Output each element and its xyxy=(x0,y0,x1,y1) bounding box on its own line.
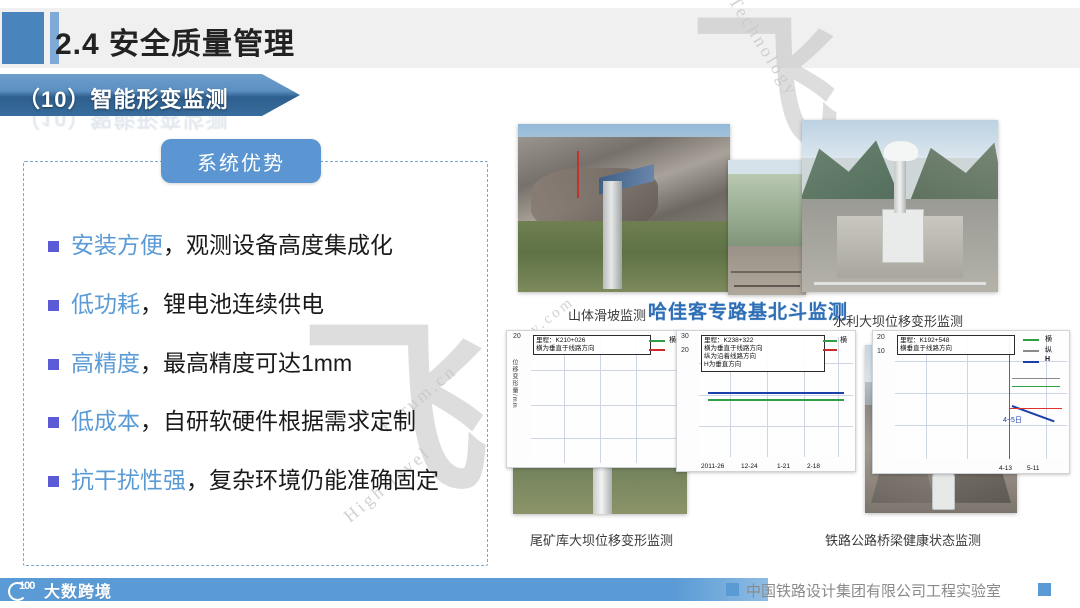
bullet-square-icon xyxy=(48,476,59,487)
chart-legend-sub3: H为垂直方向 xyxy=(704,361,822,369)
chart-x-tick-2: 1-21 xyxy=(777,463,790,470)
list-item: 低功耗，锂电池连续供电 xyxy=(48,290,478,319)
chart-legend-box: 里程：K192+548 横垂直于线路方向 xyxy=(897,335,1015,355)
chart-x-tick-3: 2-18 xyxy=(807,463,820,470)
chart-series-swatch-zong xyxy=(1023,350,1039,352)
chart-series-label-heng: 横 xyxy=(1045,334,1052,344)
bullet-comma: ， xyxy=(140,291,163,317)
chart-y-tick-second: 20 xyxy=(681,347,689,354)
chevron-label: （10）智能形变监测 xyxy=(18,82,228,114)
list-item: 高精度，最高精度可达1mm xyxy=(48,349,478,378)
chart-series-swatch-zong xyxy=(649,349,665,351)
footer-square-left xyxy=(726,583,739,596)
bullet-body: 观测设备高度集成化 xyxy=(186,232,393,258)
chart-series-swatch-heng xyxy=(1023,339,1039,341)
photo-dam-gnss-station xyxy=(802,120,998,292)
bullet-square-icon xyxy=(48,417,59,428)
chart-legend-title: 里程：K238+322 xyxy=(704,337,822,345)
section-chevron-banner: （10）智能形变监测 xyxy=(0,74,300,116)
bullet-text: 安装方便，观测设备高度集成化 xyxy=(71,231,393,260)
bullet-keyword: 抗干扰性强 xyxy=(71,467,186,493)
chart-legend-box: 里程：K238+322 横为垂直于线路方向 纵为沿着线路方向 H为垂直方向 xyxy=(701,335,825,372)
chart-legend-title: 里程：K192+548 xyxy=(900,337,1012,345)
bottom-white-strip xyxy=(0,601,1080,608)
chart-card-k192: 20 10 里程：K192+548 横垂直于线路方向 横 纵 H 4~5日 4-… xyxy=(872,330,1070,474)
caption-bridge-health: 铁路公路桥梁健康状态监测 xyxy=(825,530,981,549)
top-white-strip xyxy=(0,0,1080,8)
list-item: 低成本，自研软硬件根据需求定制 xyxy=(48,407,478,436)
chart-x-tick-1: 5-11 xyxy=(1027,465,1040,472)
chart-x-tick-1: 12-24 xyxy=(741,463,758,470)
chart-x-tick-0: 4-13 xyxy=(999,465,1012,472)
bullet-square-icon xyxy=(48,241,59,252)
slide-root: 2.4 安全质量管理 （10）智能形变监测 （10）智能形变监测 飞 飞 Tec… xyxy=(0,0,1080,608)
chart-series-swatch-zong xyxy=(823,349,837,351)
bullet-text: 低功耗，锂电池连续供电 xyxy=(71,290,324,319)
list-item: 抗干扰性强，复杂环境仍能准确固定 xyxy=(48,466,478,495)
chart-series-swatch-h xyxy=(1023,361,1039,363)
bullet-square-icon xyxy=(48,300,59,311)
chart-y-axis-label: 位移变形量/mm xyxy=(510,359,519,445)
bullet-comma: ， xyxy=(163,232,186,258)
chart-card-k210: 20 位移变形量/mm 里程：K210+026 横为垂直于线路方向 横 xyxy=(506,330,684,468)
bullet-comma: ， xyxy=(140,408,163,434)
logo-text: 大数跨境 xyxy=(44,578,112,602)
caption-railway-beidou: 哈佳客专路基北斗监测 xyxy=(648,297,848,324)
chart-series-swatch-heng xyxy=(649,340,665,342)
bullet-text: 低成本，自研软硬件根据需求定制 xyxy=(71,407,416,436)
chart-series-label-h: H xyxy=(1045,356,1050,363)
bullet-square-icon xyxy=(48,359,59,370)
page-title: 2.4 安全质量管理 xyxy=(55,19,295,63)
bullet-text: 抗干扰性强，复杂环境仍能准确固定 xyxy=(71,466,439,495)
system-advantages-badge-label: 系统优势 xyxy=(197,147,285,176)
bullet-body: 锂电池连续供电 xyxy=(163,291,324,317)
chart-series-swatch-heng xyxy=(823,340,837,342)
chart-y-tick-second: 10 xyxy=(877,348,885,355)
advantages-bullet-list: 安装方便，观测设备高度集成化 低功耗，锂电池连续供电 高精度，最高精度可达1mm… xyxy=(48,231,478,525)
caption-tailings-dam: 尾矿库大坝位移变形监测 xyxy=(530,530,673,549)
bullet-keyword: 高精度 xyxy=(71,350,140,376)
chart-y-tick-top: 30 xyxy=(681,333,689,340)
logo-circle-100-icon: 100 xyxy=(8,580,38,599)
bullet-comma: ， xyxy=(186,467,209,493)
chart-legend-sub: 横为垂直于线路方向 xyxy=(536,345,648,353)
footer-logo: 100 大数跨境 xyxy=(8,578,112,601)
bullet-body: 复杂环境仍能准确固定 xyxy=(209,467,439,493)
footer-bar xyxy=(0,578,768,601)
chevron-reflection-label: （10）智能形变监测 xyxy=(18,116,228,136)
footer-square-right xyxy=(1038,583,1051,596)
system-advantages-badge: 系统优势 xyxy=(161,139,321,183)
bullet-text: 高精度，最高精度可达1mm xyxy=(71,349,352,378)
chart-y-tick-top: 20 xyxy=(513,333,521,340)
bullet-keyword: 低成本 xyxy=(71,408,140,434)
chart-legend-title: 里程：K210+026 xyxy=(536,337,648,345)
chart-y-tick-top: 20 xyxy=(877,334,885,341)
chart-series-label-heng: 横 xyxy=(840,335,847,345)
footer-organization: 中国铁路设计集团有限公司工程实验室 xyxy=(746,580,1001,601)
chart-annotation: 4~5日 xyxy=(1003,415,1022,425)
caption-water-dam: 水利大坝位移变形监测 xyxy=(833,311,963,330)
bullet-body: 自研软硬件根据需求定制 xyxy=(163,408,416,434)
chart-card-k238: 30 20 里程：K238+322 横为垂直于线路方向 纵为沿着线路方向 H为垂… xyxy=(676,330,856,472)
header-accent-bar-wide xyxy=(2,12,44,64)
list-item: 安装方便，观测设备高度集成化 xyxy=(48,231,478,260)
logo-mark-text: 100 xyxy=(19,580,34,592)
chart-series-label-zong: 纵 xyxy=(1045,345,1052,355)
bullet-body: 最高精度可达1mm xyxy=(163,350,352,376)
caption-landslide: 山体滑坡监测 xyxy=(568,305,646,324)
chart-legend-sub: 横垂直于线路方向 xyxy=(900,345,1012,353)
photo-railway-embankment xyxy=(728,160,806,295)
chart-x-tick-0: 2011-26 xyxy=(701,463,724,470)
chart-legend-box: 里程：K210+026 横为垂直于线路方向 xyxy=(533,335,651,355)
bullet-keyword: 低功耗 xyxy=(71,291,140,317)
chart-series-label-heng: 横 xyxy=(669,335,676,345)
bullet-comma: ， xyxy=(140,350,163,376)
photo-landslide-monitoring-station xyxy=(518,124,730,292)
bullet-keyword: 安装方便 xyxy=(71,232,163,258)
